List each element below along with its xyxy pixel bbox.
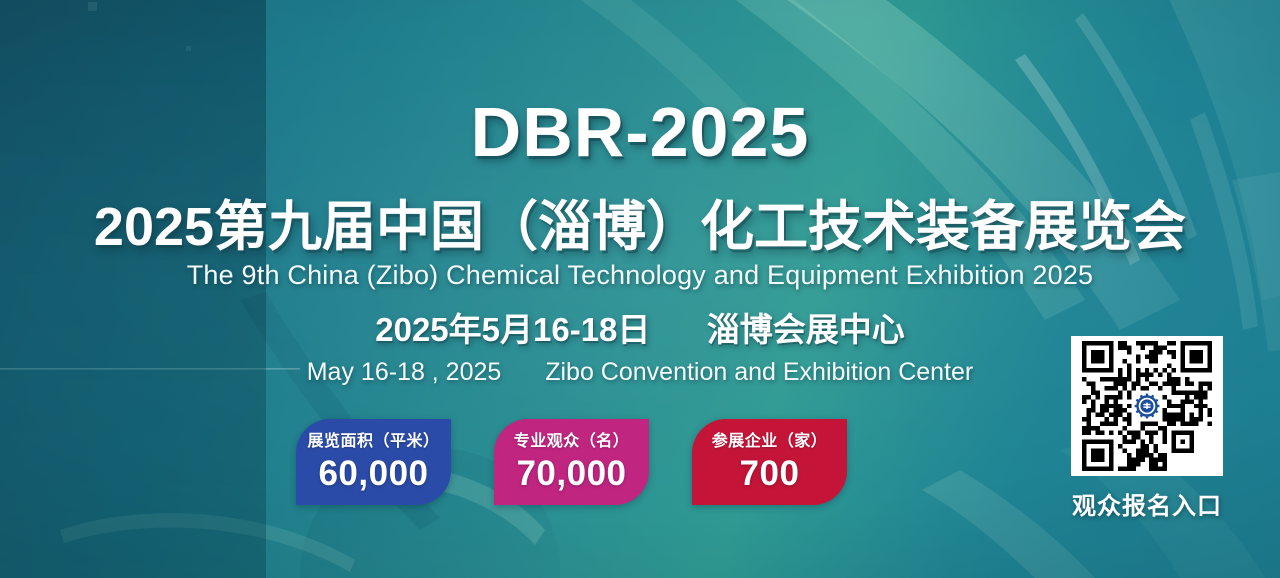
stat-badge-group: 展览面积（平米） 60,000 专业观众（名） 70,000 参展企业（家） 7… [296, 419, 847, 505]
registration-entry-label[interactable]: 观众报名入口 [1071, 486, 1223, 521]
stat-badge-value: 70,000 [516, 456, 626, 491]
gear-logo-icon [1132, 391, 1162, 421]
stat-badge-exhibition-area: 展览面积（平米） 60,000 [296, 419, 451, 505]
qr-code-frame[interactable] [1071, 336, 1223, 476]
stat-badge-value: 60,000 [318, 456, 428, 491]
event-venue-chinese: 淄博会展中心 [707, 311, 905, 348]
banner-title-chinese: 2025第九届中国（淄博）化工技术装备展览会 [0, 182, 1280, 261]
event-date-chinese: 2025年5月16-18日 [375, 311, 650, 348]
banner-title-main: DBR-2025 [0, 92, 1280, 172]
stat-badge-label: 参展企业（家） [712, 434, 828, 450]
stat-badge-label: 专业观众（名） [514, 434, 630, 450]
event-venue-english: Zibo Convention and Exhibition Center [545, 358, 973, 386]
stat-badge-exhibitor-companies: 参展企业（家） 700 [692, 419, 847, 505]
stat-badge-label: 展览面积（平米） [307, 434, 439, 450]
banner-title-english: The 9th China (Zibo) Chemical Technology… [0, 260, 1280, 291]
visitor-registration-block[interactable]: 观众报名入口 [1071, 336, 1223, 521]
stat-badge-professional-visitors: 专业观众（名） 70,000 [494, 419, 649, 505]
exhibition-banner: DBR-2025 2025第九届中国（淄博）化工技术装备展览会 The 9th … [0, 0, 1280, 578]
event-date-english: May 16-18 , 2025 [307, 358, 502, 386]
stat-badge-value: 700 [740, 456, 800, 491]
